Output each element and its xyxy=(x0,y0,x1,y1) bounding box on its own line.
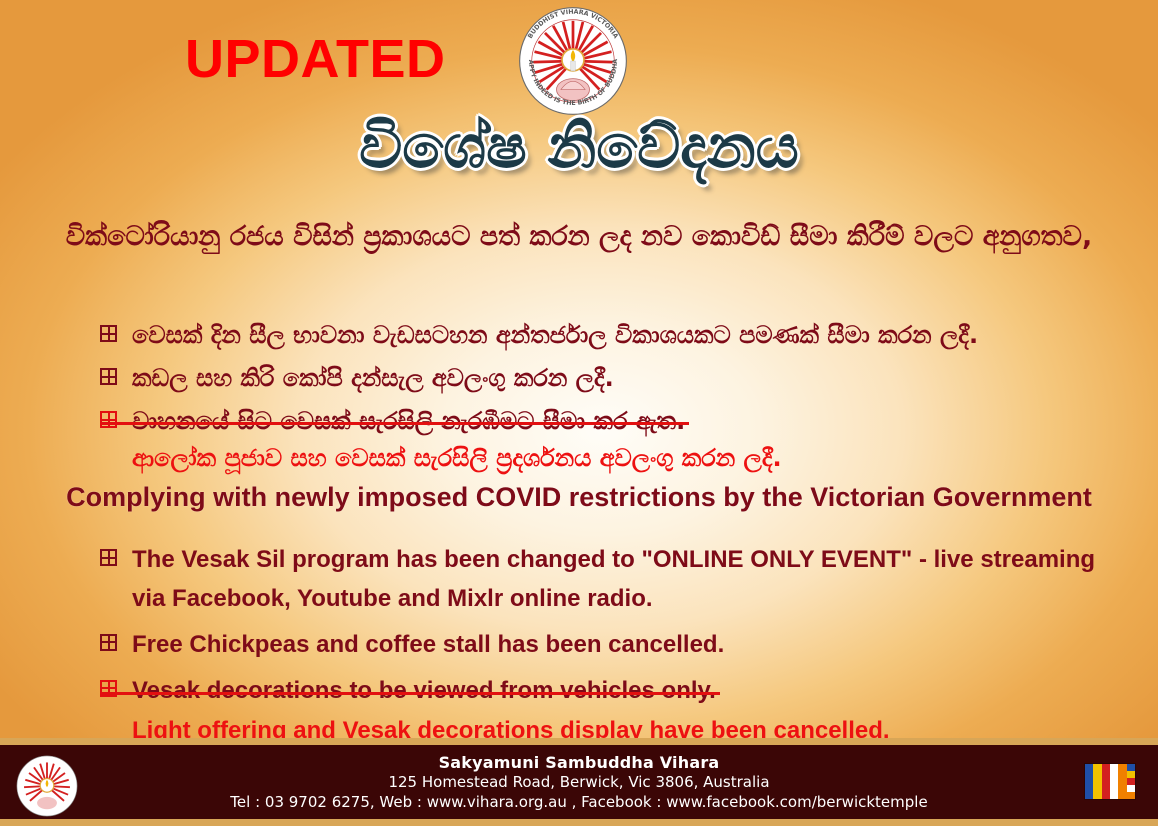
bullet-marker-icon xyxy=(100,325,117,342)
bullet-marker-icon xyxy=(100,368,117,385)
header: UPDATED xyxy=(0,0,1158,122)
list-item-text: Free Chickpeas and coffee stall has been… xyxy=(132,626,1120,665)
list-item: වාහනයේ සිට වෙසක් සැරසිලි නැරඹීමට සීමා කර… xyxy=(100,403,1120,476)
list-item-text: කඩල සහ කිරි කෝපි දන්සැල අවලංගු කරන ලදී. xyxy=(132,360,1120,396)
bullet-marker-icon xyxy=(100,411,117,428)
footer-text-block: Sakyamuni Sambuddha Vihara 125 Homestead… xyxy=(0,753,1158,812)
poster-canvas: UPDATED xyxy=(0,0,1158,826)
footer-organisation: Sakyamuni Sambuddha Vihara xyxy=(0,753,1158,773)
list-item-text: වාහනයේ සිට වෙසක් සැරසිලි නැරඹීමට සීමා කර… xyxy=(132,403,1120,476)
page-title: විශේෂ නිවේදනය xyxy=(0,116,1158,179)
list-item-text: The Vesak Sil program has been changed t… xyxy=(132,541,1120,619)
list-item-main-text: කඩල සහ කිරි කෝපි දන්සැල අවලංගු කරන ලදී. xyxy=(132,364,614,392)
sinhala-intro-paragraph: වික්ටෝරියානු රජය විසින් ප්‍රකාශයට පත් කර… xyxy=(60,218,1098,256)
list-item: Free Chickpeas and coffee stall has been… xyxy=(100,626,1120,665)
english-bullet-list: The Vesak Sil program has been changed t… xyxy=(100,541,1120,757)
list-item: The Vesak Sil program has been changed t… xyxy=(100,541,1120,619)
footer-bar: Sakyamuni Sambuddha Vihara 125 Homestead… xyxy=(0,738,1158,826)
updated-badge: UPDATED xyxy=(185,28,446,90)
footer-contact: Tel : 03 9702 6275, Web : www.vihara.org… xyxy=(0,793,1158,812)
list-item-replacement-text: ආලෝක පූජාව සහ වෙසක් සැරසිලි ප්‍රදර්ශනය අ… xyxy=(132,440,1120,476)
header-logo: BUDDHIST VIHARA VICTORIA HAPPY INDEED IS… xyxy=(518,6,628,116)
buddhist-flag-icon xyxy=(1084,763,1136,800)
list-item: කඩල සහ කිරි කෝපි දන්සැල අවලංගු කරන ලදී. xyxy=(100,360,1120,396)
bullet-marker-icon xyxy=(100,634,117,651)
list-item: වෙසක් දින සීල භාවනා වැඩසටහන අන්තර්ජාල වි… xyxy=(100,317,1120,353)
list-item-main-text: The Vesak Sil program has been changed t… xyxy=(132,546,1095,612)
list-item-main-text: Free Chickpeas and coffee stall has been… xyxy=(132,631,724,658)
vihara-seal-icon: BUDDHIST VIHARA VICTORIA HAPPY INDEED IS… xyxy=(518,6,628,116)
sinhala-bullet-list: වෙසක් දින සීල භාවනා වැඩසටහන අන්තර්ජාල වි… xyxy=(100,317,1120,483)
footer-address: 125 Homestead Road, Berwick, Vic 3806, A… xyxy=(0,773,1158,792)
english-heading: Complying with newly imposed COVID restr… xyxy=(0,482,1158,513)
bullet-marker-icon xyxy=(100,549,117,566)
list-item-main-text: වෙසක් දින සීල භාවනා වැඩසටහන අන්තර්ජාල වි… xyxy=(132,321,978,349)
list-item-struck-text: වාහනයේ සිට වෙසක් සැරසිලි නැරඹීමට සීමා කර… xyxy=(132,403,685,439)
list-item-struck-text: Vesak decorations to be viewed from vehi… xyxy=(132,672,716,711)
list-item-text: වෙසක් දින සීල භාවනා වැඩසටහන අන්තර්ජාල වි… xyxy=(132,317,1120,353)
